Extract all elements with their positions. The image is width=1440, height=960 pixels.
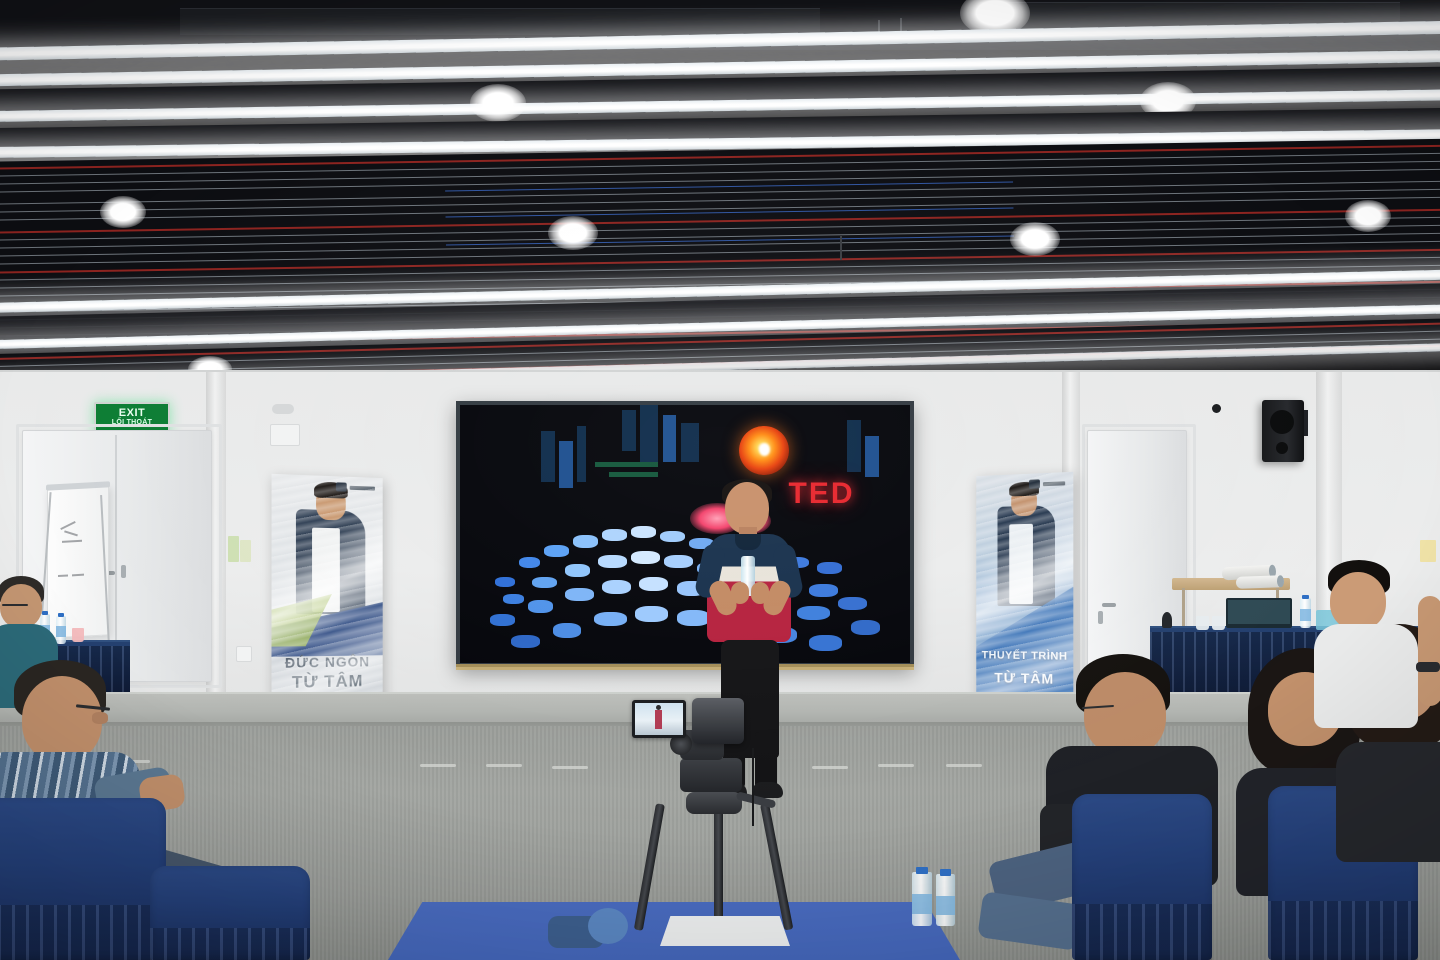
floor-marker [878,764,914,767]
wall-note [228,536,239,562]
audience-member-back-right [1312,560,1424,730]
camera-lcd-screen [632,700,686,738]
downlight [1010,222,1060,256]
water-bottle [1300,598,1311,628]
ceiling-camera-dome [1212,404,1221,413]
wall-note [240,540,251,562]
camera-body [692,698,744,744]
fireball-graphic [739,426,789,475]
wall-mounted-speaker [1262,400,1304,462]
floor-marker [420,764,456,767]
floor-marker [812,766,848,769]
water-bottle [912,872,932,926]
downlight [1345,200,1391,232]
equipment-bag [548,908,634,950]
audience-chair-right-1[interactable] [1072,794,1212,960]
presenter-hand-left [731,582,749,604]
cup [72,628,84,642]
ear [92,712,108,724]
led-presentation-screen: TED [456,401,914,667]
downlight [548,216,598,250]
wall-switch-plate[interactable] [270,424,300,446]
downlight [100,196,146,228]
cup [1212,616,1225,630]
camcorder-on-tripod[interactable] [640,686,800,936]
audience-chair-front-left[interactable] [0,798,166,960]
wall-sensor [272,404,294,414]
wall-outlet[interactable] [236,646,252,662]
wristwatch [1416,662,1440,672]
presenter-hand-right [751,582,769,604]
water-bottle [936,874,955,926]
laptop-screen [1228,600,1290,624]
paper-on-floor [660,916,790,946]
audience-arm-far-right [1418,596,1440,706]
exit-sign-primary-label: EXIT [119,408,145,419]
wall-note [1420,540,1436,562]
ceiling [0,0,1440,400]
tripod-head [686,792,742,814]
floor-marker [552,766,588,769]
audience-crowd-image [478,513,892,657]
downlight [470,84,526,122]
microphone [1162,612,1172,628]
conference-room-photo: EXIT LỐI THOÁT [0,0,1440,960]
camera-mount [680,758,742,792]
cup [1196,616,1209,630]
camera-cable [752,748,774,826]
rolled-paper [1236,575,1284,589]
presenter-collar [735,534,761,550]
floor-marker [946,764,982,767]
audience-chair-front-left-2[interactable] [150,866,310,960]
floor-marker [486,764,522,767]
